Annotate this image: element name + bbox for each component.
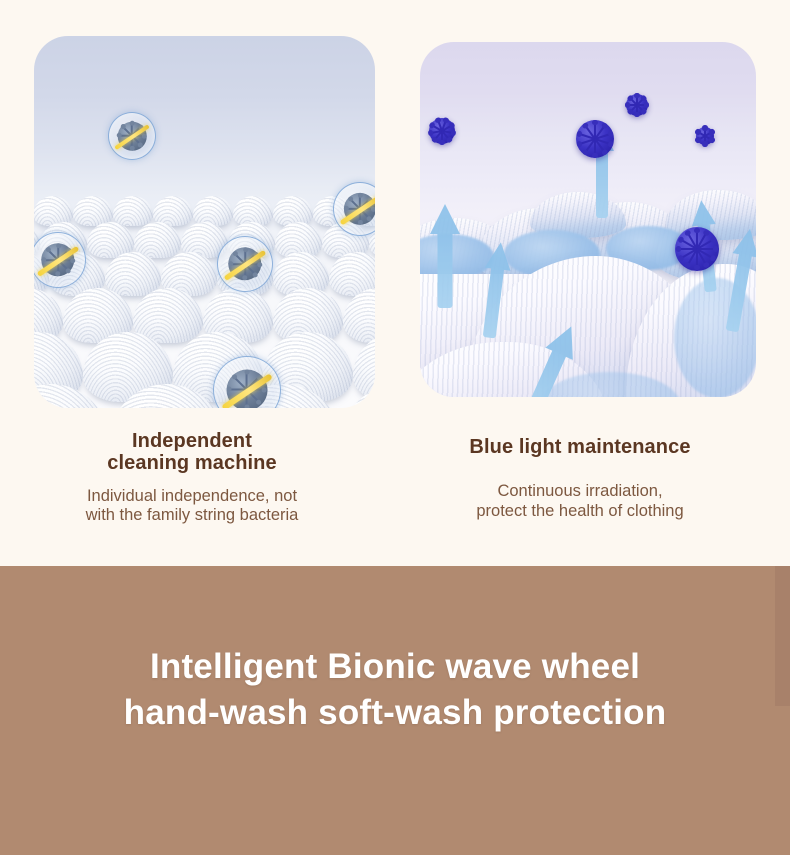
bacteria-blocked-badge [333,182,375,236]
caption-subtitle-line2: protect the health of clothing [476,502,683,520]
blue-light-maintenance-image [420,42,756,397]
banner-heading-line1: Intelligent Bionic wave wheel [150,647,640,686]
fabric-dome-row [34,288,375,348]
caption-title: Blue light maintenance [400,436,760,458]
caption-subtitle: Continuous irradiation, protect the heal… [400,482,760,521]
caption-title-line2: cleaning machine [107,452,276,474]
independent-cleaning-machine-image [34,36,375,408]
bacteria-blocked-badge [217,236,273,292]
virus-particle-icon [675,227,719,271]
caption-subtitle-line1: Individual independence, not [87,487,297,505]
bacteria-blocked-badge [108,112,156,160]
bacteria-blocked-badge [213,356,281,408]
caption-title-line1: Independent [132,430,252,452]
fabric-dome-row [34,384,375,408]
promo-banner: Intelligent Bionic wave wheel hand-wash … [0,566,790,855]
caption-subtitle-line1: Continuous irradiation, [497,482,662,500]
caption-blue-light-maintenance: Blue light maintenance Continuous irradi… [400,436,760,521]
caption-independent-cleaning-machine: Independent cleaning machine Individual … [12,430,372,526]
fabric-dome-row [34,332,375,408]
airflow-arrow-icon [430,204,460,308]
caption-subtitle-line2: with the family string bacteria [86,506,299,524]
bacteria-blocked-badge [34,232,86,288]
feature-card-independent-cleaning-machine[interactable] [34,36,375,408]
virus-particle-icon [696,127,714,145]
feature-card-blue-light-maintenance[interactable] [420,42,756,397]
fabric-dome-row [34,196,375,230]
product-feature-page: Independent cleaning machine Individual … [0,0,790,855]
virus-particle-icon [429,118,455,144]
feature-section: Independent cleaning machine Individual … [0,0,790,566]
caption-subtitle: Individual independence, not with the fa… [12,487,372,526]
banner-heading: Intelligent Bionic wave wheel hand-wash … [0,644,790,736]
virus-particle-icon [576,120,614,158]
caption-title-line1: Blue light maintenance [469,436,690,458]
caption-title: Independent cleaning machine [12,430,372,475]
virus-particle-icon [626,94,648,116]
banner-heading-line2: hand-wash soft-wash protection [124,693,667,732]
